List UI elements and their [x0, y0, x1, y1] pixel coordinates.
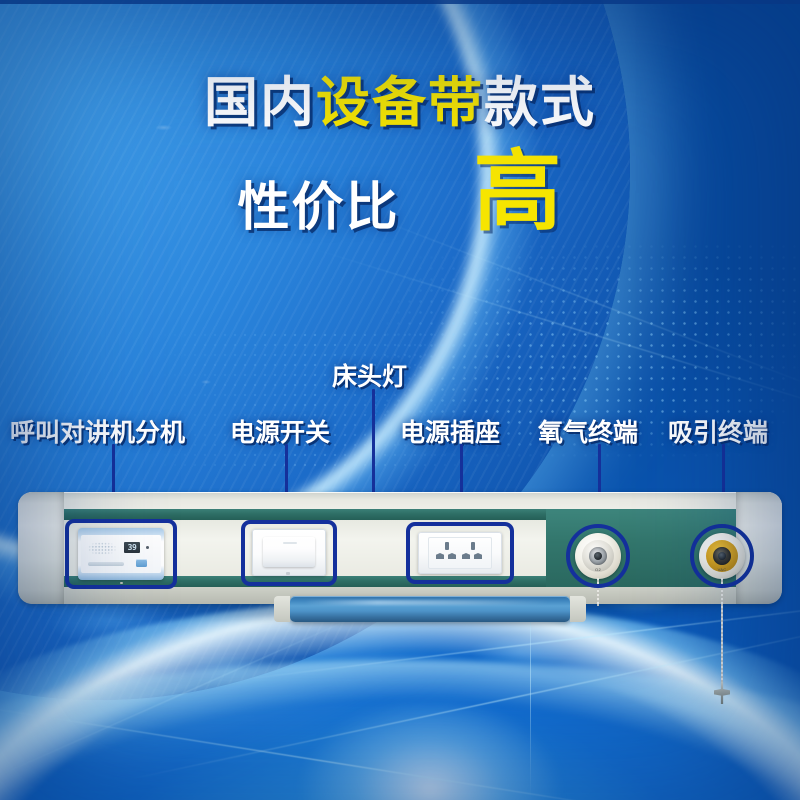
headline-block: 国内设备带款式 性价比 高	[0, 76, 800, 236]
headline-gao-accent: 高	[474, 148, 563, 236]
callout-label-power-switch: 电源开关	[230, 413, 330, 449]
headline-line1-part2: 款式	[484, 73, 596, 133]
headline-line1-part1: 国内	[204, 73, 316, 133]
bed-lamp-diffuser	[290, 596, 570, 622]
callout-label-suction: 吸引终端	[668, 413, 768, 449]
panel-end-cap-left	[18, 492, 64, 604]
light-streak	[128, 621, 800, 780]
highlight-box-power-switch	[241, 520, 337, 586]
banner-stage: 国内设备带款式 性价比 高 呼叫对讲机分机 电源开关 床头灯 电源插座 氧气终端…	[0, 0, 800, 800]
highlight-box-intercom	[65, 519, 177, 589]
lamp-end-cap-left	[274, 596, 290, 622]
suction-pull-cord	[721, 578, 723, 686]
callout-label-intercom: 呼叫对讲机分机	[10, 413, 185, 449]
headline-line-2: 性价比 高	[0, 148, 800, 236]
headline-line-1: 国内设备带款式	[0, 76, 800, 130]
callout-label-bed-lamp: 床头灯	[332, 357, 407, 393]
callout-label-oxygen: 氧气终端	[538, 413, 638, 449]
top-edge-bar	[0, 0, 800, 4]
headline-line1-accent: 设备带	[316, 73, 484, 133]
lamp-end-cap-right	[570, 596, 586, 622]
highlight-circle-suction	[690, 524, 754, 588]
lamp-gloss-highlight	[304, 600, 550, 605]
highlight-box-power-socket	[406, 522, 514, 584]
callout-label-power-socket: 电源插座	[400, 413, 500, 449]
headline-value-text: 性价比	[237, 182, 399, 236]
highlight-circle-oxygen	[566, 524, 630, 588]
light-streak	[0, 704, 676, 800]
